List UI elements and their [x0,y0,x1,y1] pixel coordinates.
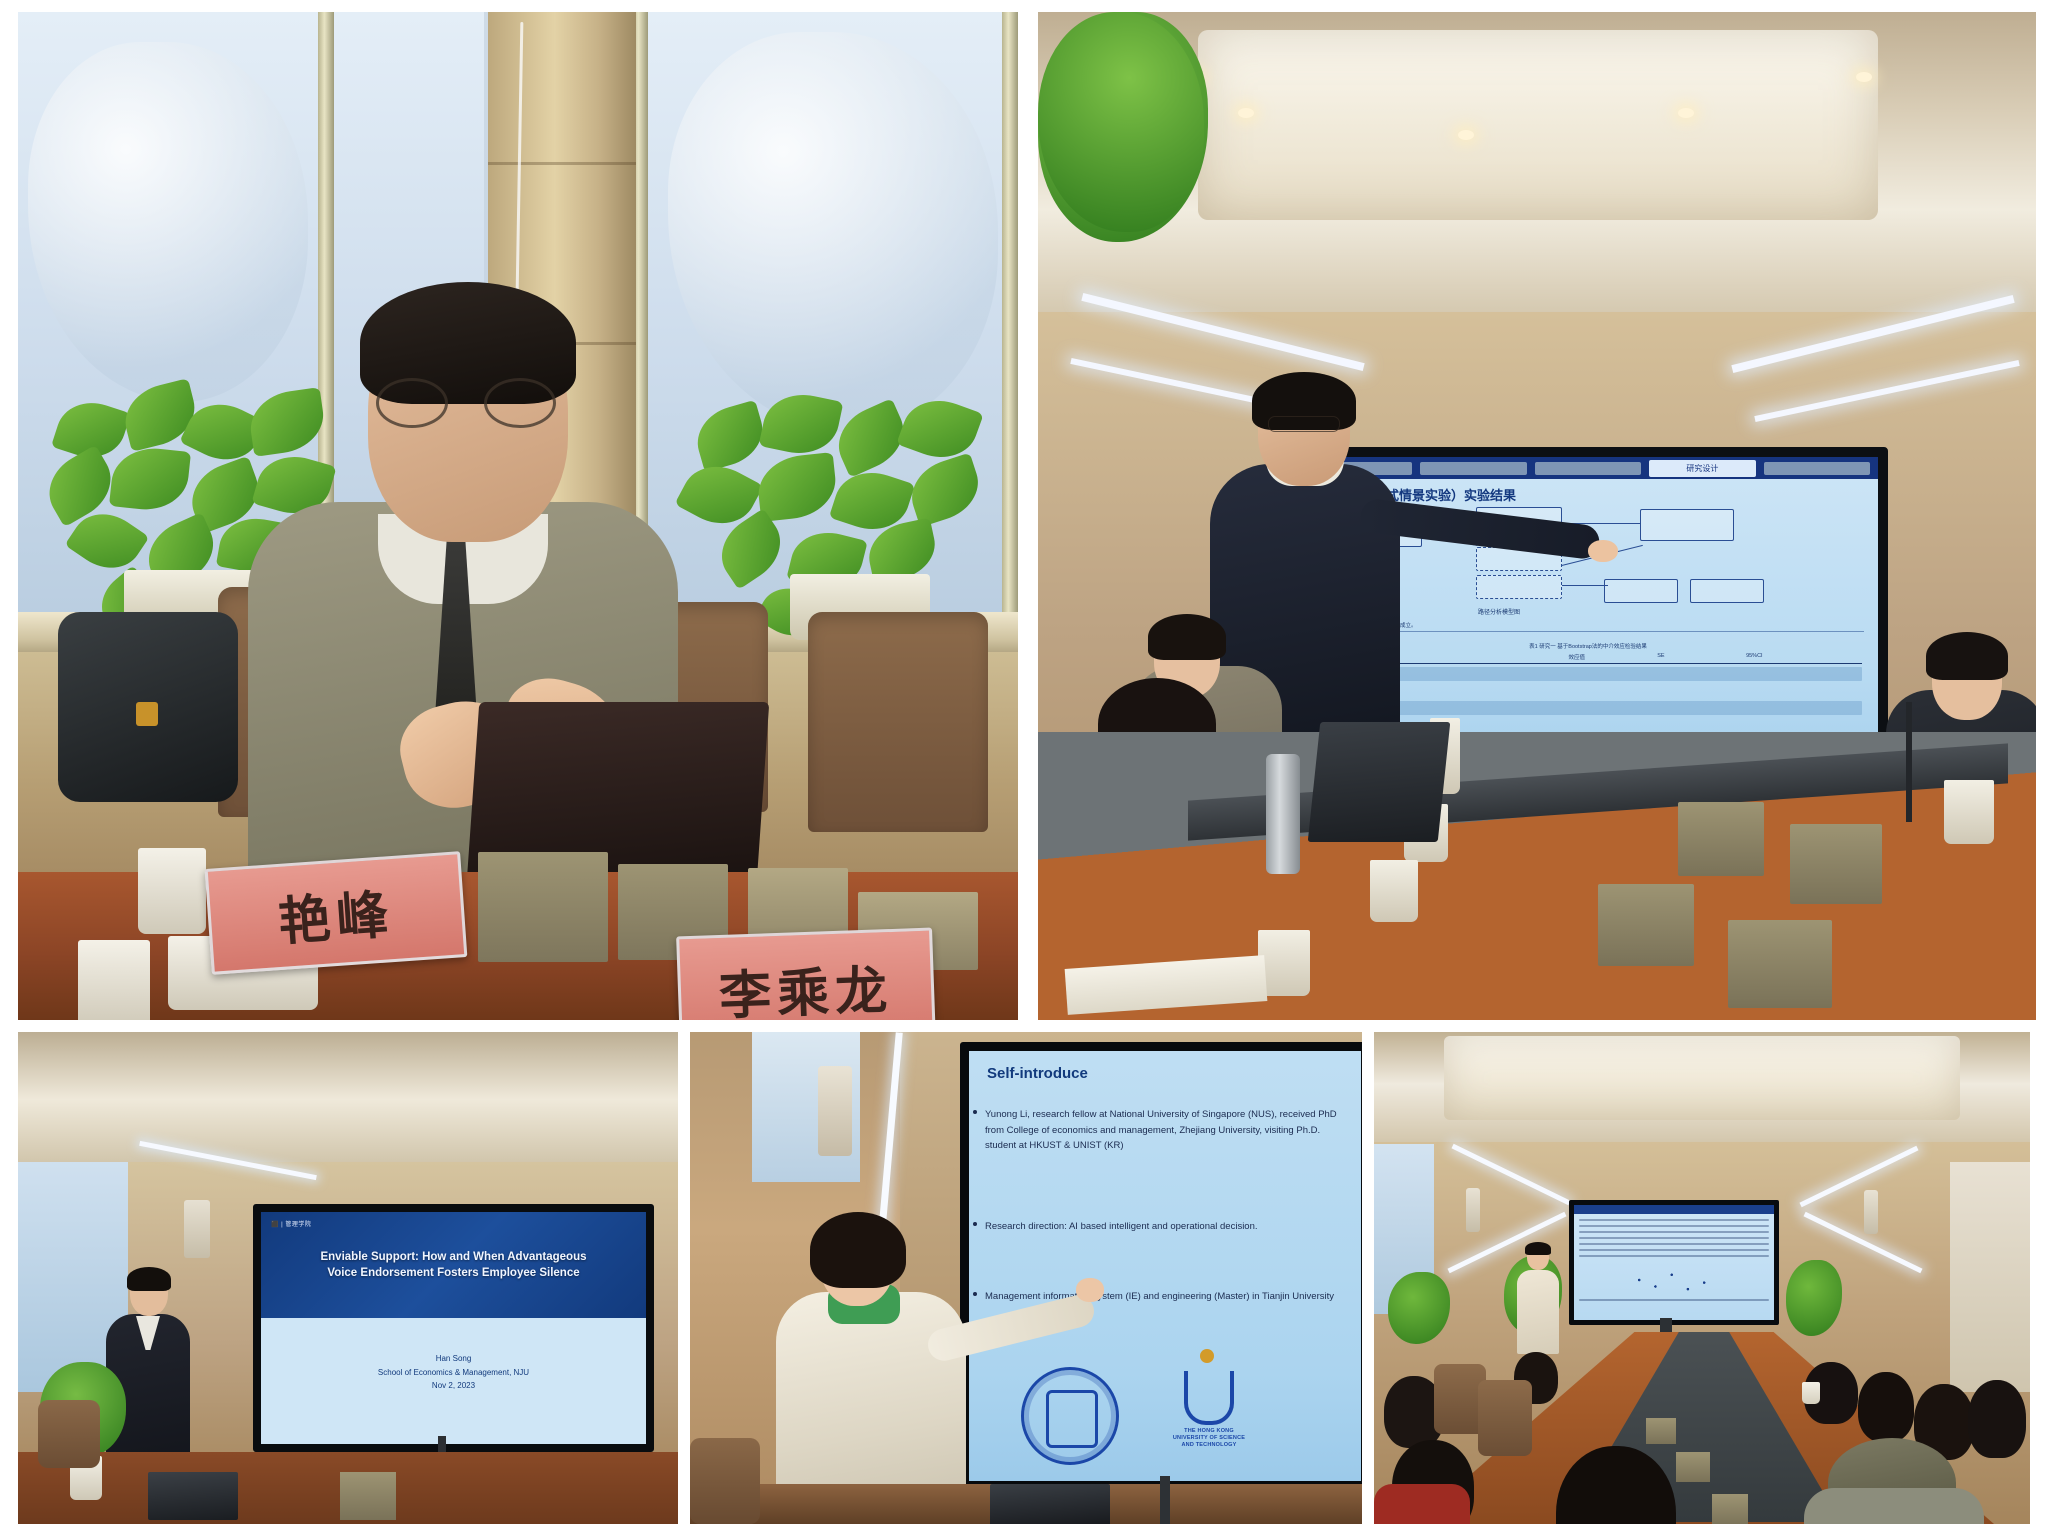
office-chair-5 [690,1438,760,1524]
woman-4-hair [810,1212,906,1288]
presenter-5-hair [1525,1242,1551,1255]
slide-5-network-diagram [1616,1267,1732,1293]
name-placard-2-text: 李乘龙 [718,947,895,1020]
hkust-mark-icon [1184,1371,1234,1425]
slide-4: Self-introduce Yunong Li, research fello… [969,1051,1361,1481]
photo-top-left: 艳峰 李乘龙 [18,12,1018,1020]
slide-3-presenter: Han Song [271,1352,636,1366]
tissue-box-9 [1676,1452,1710,1482]
tissue-box-1 [478,852,608,962]
presenter-person-5 [1517,1244,1559,1354]
audience-hoodie [1804,1488,1984,1524]
tissue-box-3 [1678,802,1764,876]
downlight-2 [1458,130,1474,140]
downlight-1 [1238,108,1254,118]
hkust-logo-text: THE HONG KONG UNIVERSITY OF SCIENCE AND … [1169,1428,1249,1449]
name-placard-1-text: 艳峰 [276,872,397,955]
slide-3-date: Nov 2, 2023 [271,1379,636,1393]
ac-vent-3 [184,1200,210,1258]
slide-th-1: 效应值 [1568,653,1651,661]
ac-unit-4 [818,1066,852,1156]
slide-4-bullet-1: Research direction: AI based intelligent… [985,1219,1351,1235]
laptop-2 [1308,722,1451,842]
photo-bottom-right [1374,1032,2030,1524]
slide-3-affiliation: School of Economics & Management, NJU [271,1366,636,1380]
slide-4-bullet-2: Management information system (IE) and e… [985,1289,1351,1305]
slide-4-bullet-2-text: Management information system (IE) and e… [985,1291,1334,1302]
slide-3-title-line-2: Voice Endorsement Fosters Employee Silen… [271,1266,636,1282]
ceiling-coffer-5 [1444,1036,1960,1120]
photo-collage: 艳峰 李乘龙 [0,0,2048,1535]
photo-bottom-middle: Self-introduce Yunong Li, research fello… [690,1032,1362,1524]
name-placard-2: 李乘龙 [676,928,936,1020]
tissue-box-5 [1598,884,1694,966]
audience-head-8 [1968,1380,2026,1458]
presentation-display-4: Self-introduce Yunong Li, research fello… [960,1042,1362,1490]
slide-3-subtitle: Han Song School of Economics & Managemen… [271,1352,636,1393]
thermos-flask [1266,754,1300,874]
presentation-display-5 [1569,1200,1779,1325]
slide-5 [1574,1205,1774,1320]
paper-cup-6 [1944,780,1994,844]
diagram-edge-5 [1562,585,1608,586]
audience-red-coat [1374,1484,1470,1524]
eyeglasses-icon [376,378,556,424]
slide-tab-4 [1764,462,1870,475]
slide-4-bullet-0: Yunong Li, research fellow at National U… [985,1107,1351,1154]
backpack-logo [136,702,158,726]
name-placard-1: 艳峰 [205,851,468,975]
slide-5-header [1574,1205,1774,1214]
hkust-logo: THE HONG KONG UNIVERSITY OF SCIENCE AND … [1169,1371,1249,1449]
paper-cup-4 [1370,860,1418,922]
presenting-woman-4 [776,1218,1006,1524]
door-5 [1950,1162,2030,1392]
woman-4-hand [1076,1278,1104,1302]
slide-4-bullet-1-text: Research direction: AI based intelligent… [985,1221,1258,1232]
ceiling-coffer-2 [1198,30,1878,220]
presenter-hand [1588,540,1618,562]
tissue-box-8 [1646,1418,1676,1444]
diagram-node-4 [1476,575,1562,599]
audience-head-6 [1858,1372,1914,1442]
slide-3-logo: ⬛ | 管理学院 [271,1219,311,1228]
tissue-box-10 [1712,1494,1748,1524]
presentation-display-3: ⬛ | 管理学院 Enviable Support: How and When … [253,1204,654,1452]
tissue-box-4 [1790,824,1882,904]
downlight-4 [1856,72,1872,82]
laptop-3 [148,1472,238,1520]
ceiling-3 [18,1032,678,1182]
bullet-icon [973,1110,977,1114]
slide-tab-2 [1535,462,1641,475]
office-chair-4 [38,1400,100,1468]
man-3-hair [127,1267,171,1291]
paper-cup-1 [138,848,206,934]
tissue-box-6 [1728,920,1832,1008]
ac-vent-5-left [1466,1188,1480,1232]
ac-vent-5-right [1864,1190,1878,1234]
tissue-box-7 [340,1472,396,1520]
slide-4-heading: Self-introduce [987,1065,1088,1082]
office-chair-7 [1478,1380,1532,1456]
presenter-5-jacket [1517,1270,1559,1354]
slide-3-header: ⬛ | 管理学院 Enviable Support: How and When … [261,1212,646,1318]
slide-tab-1 [1420,462,1526,475]
photo-bottom-left: ⬛ | 管理学院 Enviable Support: How and When … [18,1032,678,1524]
paper-cup-2 [78,940,150,1020]
diagram-node-7 [1690,579,1764,603]
diagram-node-5 [1640,509,1734,541]
slide-3-title-line-1: Enviable Support: How and When Advantage… [271,1250,636,1266]
slide-4-bullet-0-text: Yunong Li, research fellow at National U… [985,1109,1337,1151]
downlight-3 [1678,108,1694,118]
microphone-stand [1906,702,1912,822]
slide-th-2: SE [1657,653,1740,661]
office-chair-3 [808,612,988,832]
slide-3-body: Han Song School of Economics & Managemen… [261,1318,646,1444]
slide-tab-active: 研究设计 [1649,460,1755,477]
presenter-glasses-icon [1268,416,1340,432]
photo-top-right: 研究设计 研究一（回忆式情景实验）实验结果 路径分析模型图 结果表明：间接 [1038,12,2036,1020]
laptop-4 [990,1484,1110,1524]
diagram-caption: 路径分析模型图 [1478,607,1520,616]
diagram-node-6 [1604,579,1678,603]
slide-3-title: Enviable Support: How and When Advantage… [271,1250,636,1281]
university-seal-icon [1021,1367,1119,1465]
display-stand-4 [1160,1476,1170,1524]
paper-cup-8 [1802,1382,1820,1404]
slide-th-3: 95%CI [1746,653,1862,661]
